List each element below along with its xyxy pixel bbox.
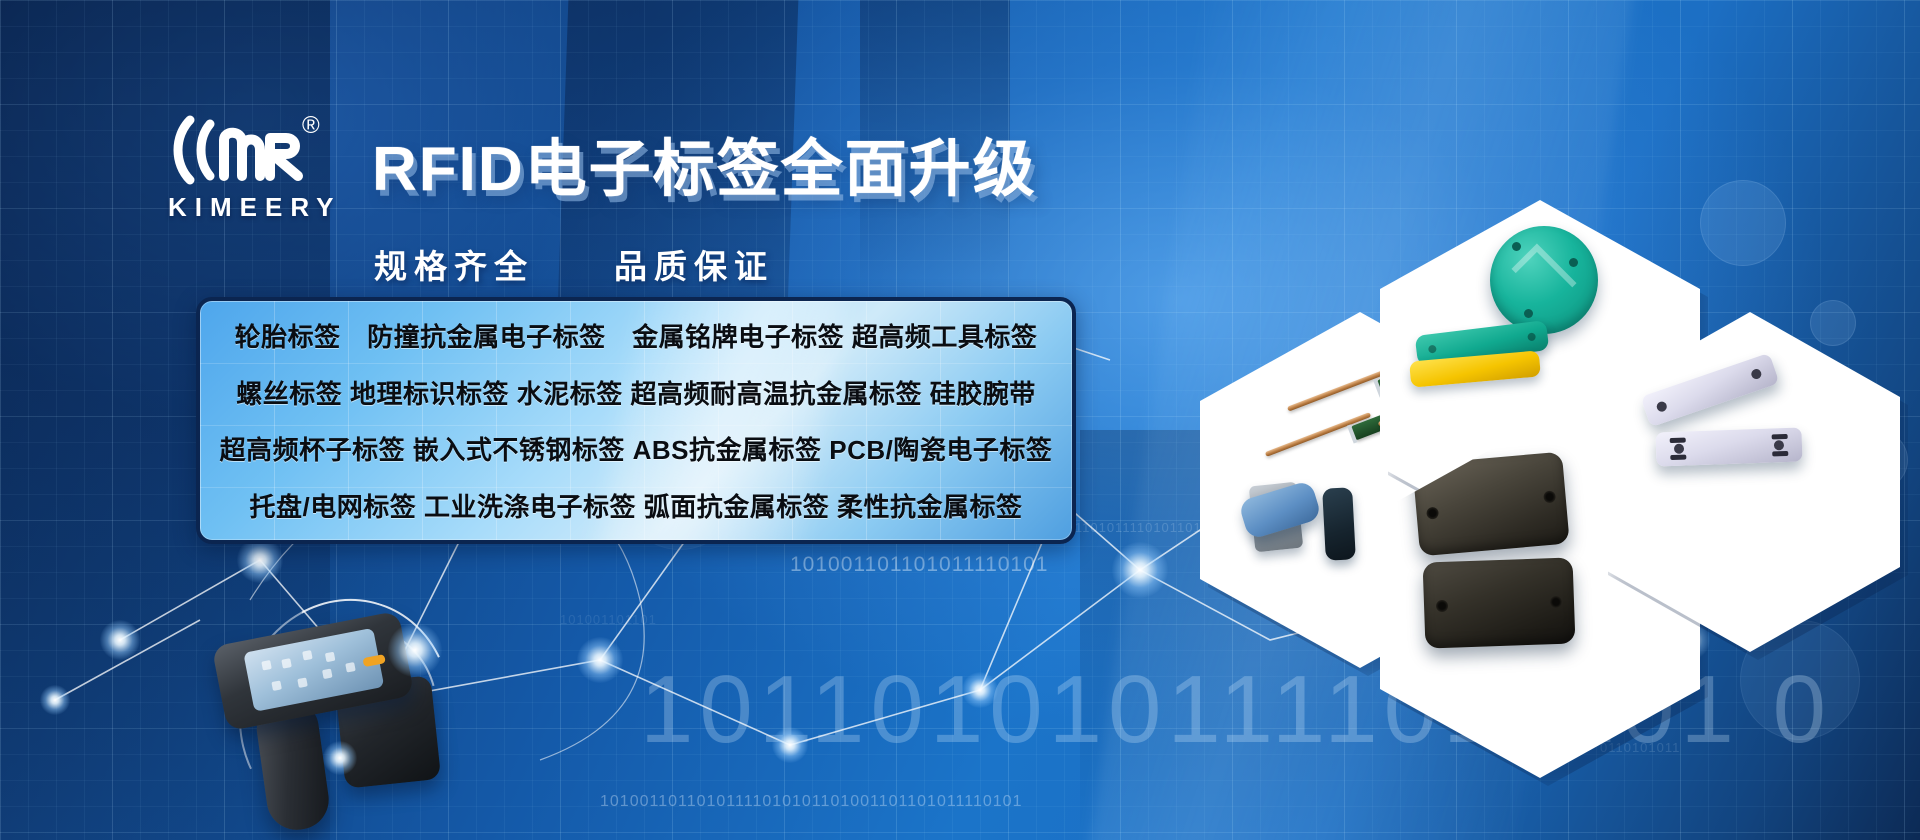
product-category-row: 螺丝标签 地理标识标签 水泥标签 超高频耐高温抗金属标签 硅胶腕带 [200,364,1072,421]
teal-disc-tag [1490,226,1598,334]
reader-signal-glow [323,741,357,775]
product-category-row: 托盘/电网标签 工业洗涤电子标签 弧面抗金属标签 柔性抗金属标签 [200,477,1072,534]
binary-text: 101001101101 [560,612,657,627]
rfid-promo-banner: 1011010101111010101 0 010011011010111101… [0,0,1920,840]
brand-wordmark: KIMEERY [168,192,348,223]
product-category-row: 超高频杯子标签 嵌入式不锈钢标签 ABS抗金属标签 PCB/陶瓷电子标签 [200,421,1072,478]
black-rect-tag-bottom [1423,557,1576,648]
dark-bar-tag [1322,487,1356,560]
reader-signal-glow [388,623,442,677]
registered-trademark-icon: ® [302,112,320,140]
brand-logo[interactable]: ® KIMEERY [168,110,348,230]
bokeh-circle [1700,180,1786,266]
network-node [1112,542,1168,598]
network-node [40,685,70,715]
network-node [100,620,140,660]
product-category-row: 轮胎标签 防撞抗金属电子标签 金属铭牌电子标签 超高频工具标签 [200,307,1072,364]
network-node [772,727,808,763]
white-bar-tag-lower [1655,427,1802,466]
network-node [577,637,623,683]
binary-text: 1010011011010111101010110100110110101111… [600,793,1022,811]
logo-glyph [168,110,318,190]
bokeh-circle [1810,300,1856,346]
binary-text: 101001101101011110101 [790,553,1048,577]
kimeery-wave-mark: ® [168,110,318,188]
product-category-rows: 轮胎标签 防撞抗金属电子标签 金属铭牌电子标签 超高频工具标签 螺丝标签 地理标… [200,301,1072,540]
reader-touchscreen[interactable] [243,628,384,712]
page-title: RFID电子标签全面升级 [372,118,1037,208]
product-category-box: 轮胎标签 防撞抗金属电子标签 金属铭牌电子标签 超高频工具标签 螺丝标签 地理标… [196,297,1076,544]
page-subtitle: 规格齐全 品质保证 [374,240,774,288]
network-node [962,672,998,708]
white-bar-tag-upper [1640,353,1779,428]
handheld-rfid-reader[interactable] [200,610,470,840]
